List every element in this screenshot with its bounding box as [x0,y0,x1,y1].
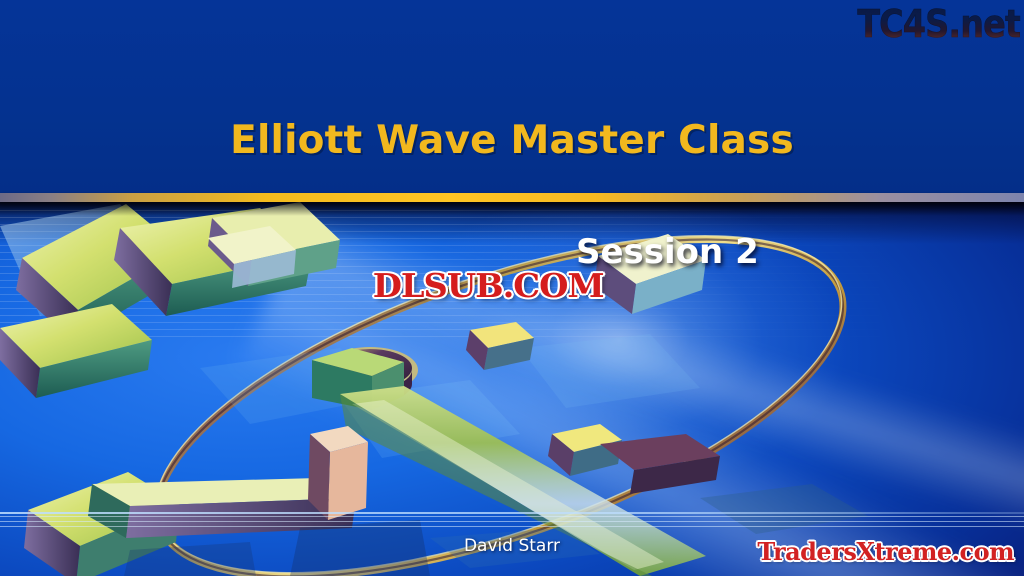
abstract-3d-orbit-artwork [0,198,1024,576]
watermark-tradersxtreme: TradersXtreme.com [757,537,1014,566]
artwork-block [308,426,368,520]
watermark-tc4s: TC4S.net [857,2,1020,46]
artwork-block [466,322,534,370]
artwork-block [0,304,152,398]
slide-artwork-panel [0,198,1024,576]
slide-title: Elliott Wave Master Class [0,118,1024,163]
presentation-slide: Elliott Wave Master Class Session 2 Davi… [0,0,1024,576]
gold-divider-rule [0,193,1024,202]
watermark-dlsub: DLSUB.COM [373,266,604,305]
